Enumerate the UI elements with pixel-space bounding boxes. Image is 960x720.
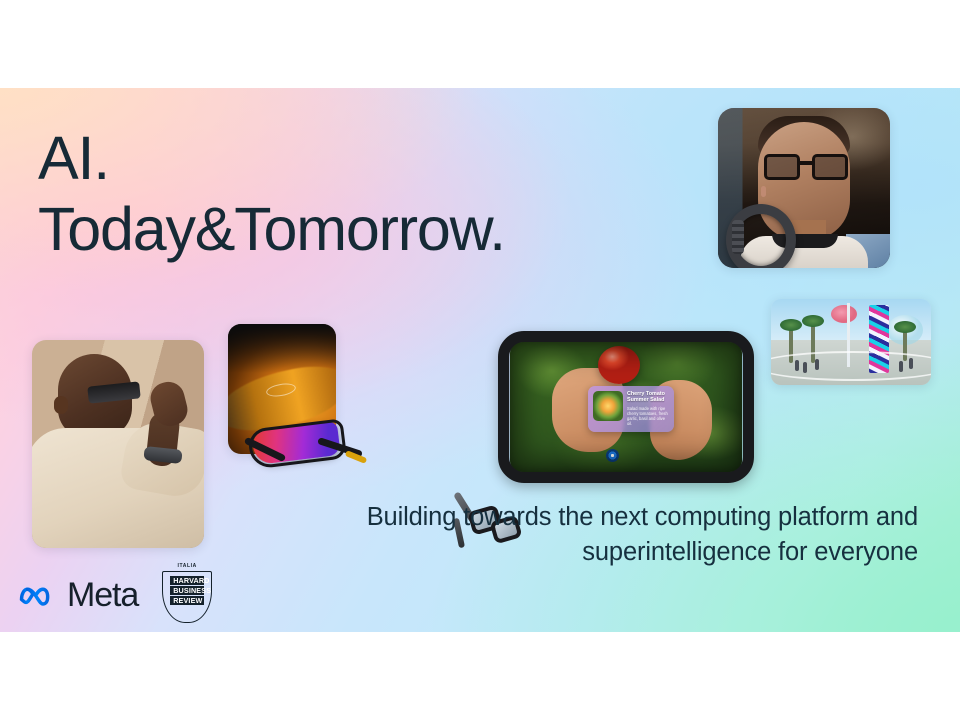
avatar-figure [909,358,913,369]
logo-row: Meta ITALIA HARVARD BUSINESS REVIEW [18,564,214,626]
recipe-body: Salad made with ripe cherry tomatoes, fr… [627,406,669,426]
cherry-tomato [598,346,640,384]
palm-fronds [780,319,802,331]
hbr-italia-logo: ITALIA HARVARD BUSINESS REVIEW [160,564,214,626]
hbr-shield-outline: HARVARD BUSINESS REVIEW [162,571,212,623]
photo-woman-display-glasses [718,108,890,268]
avatar-figure [795,360,799,371]
palm-fronds [802,315,824,327]
subtitle-line-1: Building towards the next computing plat… [246,500,918,535]
slide-canvas: AI. Today&Tomorrow. [0,0,960,720]
lens-right [812,154,848,180]
recipe-thumbnail [593,391,623,421]
hbr-line-harvard: HARVARD [170,576,204,585]
presentation-slide: AI. Today&Tomorrow. [0,88,960,632]
avatar-figure [899,361,903,372]
avatar-figure [815,359,819,370]
meta-wordmark: Meta [67,578,138,612]
photo-ar-tomato-view: Cherry Tomato Summer Salad Salad made wi… [510,342,742,472]
hbr-italia-label: ITALIA [178,564,197,569]
photo-vr-city-scene [771,299,931,385]
hbr-line-business: BUSINESS [170,586,204,595]
ar-recipe-card: Cherry Tomato Summer Salad Salad made wi… [588,386,674,432]
letterbox-top [0,0,960,88]
smart-glasses-icon [764,154,848,180]
meta-logo-lockup: Meta [18,578,138,612]
page-title: AI. Today&Tomorrow. [38,123,505,265]
earring-shape [761,186,766,197]
subtitle-line-2: superintelligence for everyone [246,535,918,570]
photo-man-smart-glasses [32,340,204,548]
headline-line-2: Today&Tomorrow. [38,194,505,265]
hbr-line-review: REVIEW [170,596,204,605]
neural-band-wristband [726,204,796,268]
meta-infinity-logo-icon [18,582,58,608]
ear-shape [54,396,68,414]
avatar-figure [803,362,807,373]
oakley-sunglasses-overlay [245,418,357,480]
recipe-subtitle: Summer Salad [627,397,669,403]
palm-fronds [894,321,916,333]
letterbox-bottom [0,632,960,720]
slide-subtitle: Building towards the next computing plat… [246,500,918,570]
meta-ai-dot-icon [606,449,619,462]
headline-line-1: AI. [38,124,109,192]
recipe-text: Cherry Tomato Summer Salad Salad made wi… [627,391,669,427]
lens-left [764,154,800,180]
balloon-shape [831,305,857,323]
bridge [800,161,812,165]
